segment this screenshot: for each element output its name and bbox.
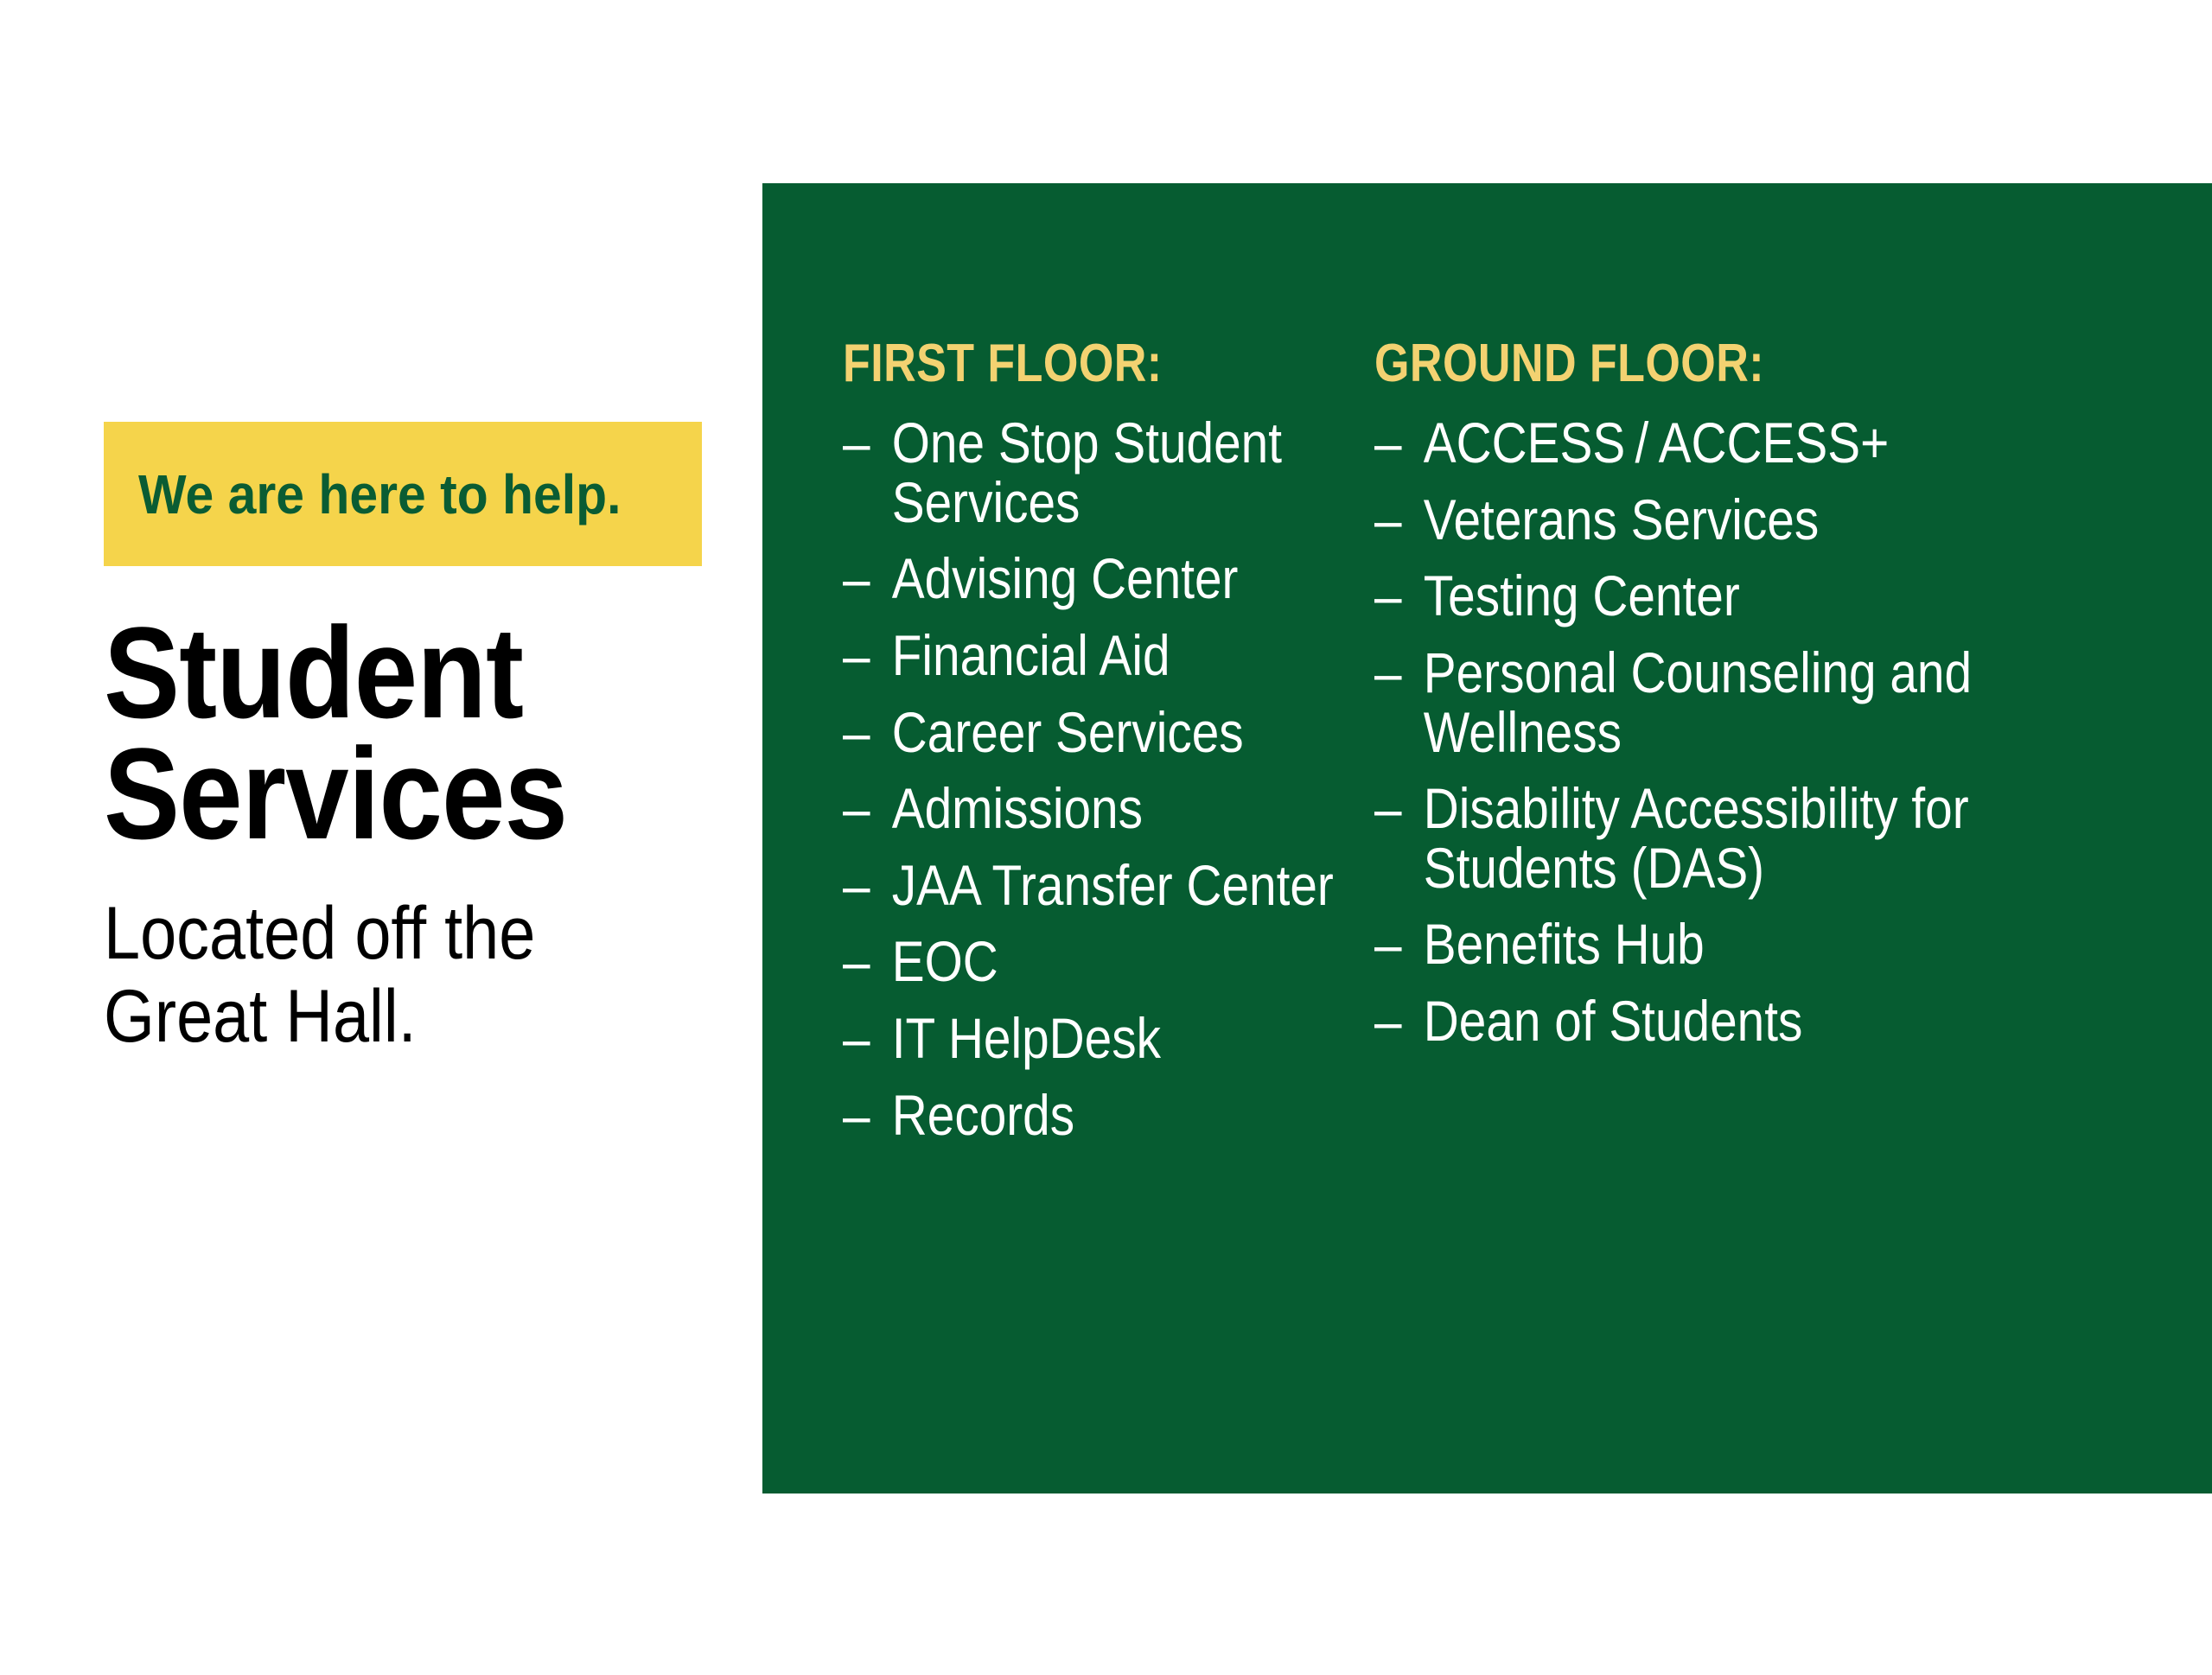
floor-list-ground: – ACCESS / ACCESS+ – Veterans Services –…: [1374, 413, 2083, 1051]
floor-column-ground: GROUND FLOOR: – ACCESS / ACCESS+ – Veter…: [1374, 337, 2083, 1051]
list-item-label: Career Services: [892, 703, 1423, 762]
floor-column-first: FIRST FLOOR: – One Stop Student Services…: [843, 337, 1374, 1144]
list-item-label: Benefits Hub: [1424, 914, 2131, 974]
floor-columns: FIRST FLOOR: – One Stop Student Services…: [843, 337, 2083, 1144]
services-panel: FIRST FLOOR: – One Stop Student Services…: [762, 183, 2212, 1493]
list-item-label: Testing Center: [1424, 566, 2131, 626]
list-marker-icon: –: [843, 703, 870, 762]
list-item: – Career Services: [843, 703, 1422, 762]
list-item-label: Dean of Students: [1424, 991, 2131, 1051]
list-item-label: Veterans Services: [1424, 490, 2131, 550]
list-item: – ACCESS / ACCESS+: [1374, 413, 2131, 473]
list-item-label: EOC: [892, 932, 1423, 991]
list-item-label: IT HelpDesk: [892, 1009, 1423, 1068]
list-marker-icon: –: [1374, 914, 1402, 974]
floor-heading-first: FIRST FLOOR:: [843, 337, 1290, 391]
list-item-label: Disability Accessibility for Students (D…: [1424, 779, 2131, 897]
list-item-label: One Stop Student Services: [892, 413, 1423, 532]
list-item-label: JAA Transfer Center: [892, 856, 1423, 915]
list-marker-icon: –: [1374, 643, 1402, 703]
list-marker-icon: –: [843, 1086, 870, 1145]
list-item: – Dean of Students: [1374, 991, 2131, 1051]
list-marker-icon: –: [1374, 566, 1402, 626]
list-item: – JAA Transfer Center: [843, 856, 1422, 915]
list-marker-icon: –: [1374, 490, 1402, 550]
list-marker-icon: –: [843, 856, 870, 915]
list-item-label: Admissions: [892, 779, 1423, 838]
list-item: – Benefits Hub: [1374, 914, 2131, 974]
list-item: – Financial Aid: [843, 626, 1422, 685]
help-badge-label: We are here to help.: [138, 467, 621, 522]
list-item-label: Financial Aid: [892, 626, 1423, 685]
list-item-label: Records: [892, 1086, 1423, 1145]
list-item: – Testing Center: [1374, 566, 2131, 626]
floor-list-first: – One Stop Student Services – Advising C…: [843, 413, 1374, 1144]
list-marker-icon: –: [843, 413, 870, 473]
page-title: Student Services: [104, 613, 659, 854]
page-title-line-1: Student: [104, 613, 659, 734]
list-item: – Personal Counseling and Wellness: [1374, 643, 2131, 761]
help-badge: We are here to help.: [104, 422, 702, 566]
list-item: – IT HelpDesk: [843, 1009, 1422, 1068]
page-subtitle: Located off the Great Hall.: [104, 892, 659, 1059]
list-marker-icon: –: [1374, 779, 1402, 838]
list-marker-icon: –: [843, 549, 870, 608]
list-item-label: ACCESS / ACCESS+: [1424, 413, 2131, 473]
poster-canvas: FIRST FLOOR: – One Stop Student Services…: [0, 0, 2212, 1675]
list-item: – One Stop Student Services: [843, 413, 1422, 532]
page-subtitle-line-1: Located off the: [104, 892, 659, 975]
list-item-label: Personal Counseling and Wellness: [1424, 643, 2131, 761]
list-item: – Records: [843, 1086, 1422, 1145]
floor-heading-ground: GROUND FLOOR:: [1374, 337, 1970, 391]
list-item: – EOC: [843, 932, 1422, 991]
list-marker-icon: –: [843, 779, 870, 838]
list-item: – Disability Accessibility for Students …: [1374, 779, 2131, 897]
list-item: – Advising Center: [843, 549, 1422, 608]
list-marker-icon: –: [843, 626, 870, 685]
list-marker-icon: –: [843, 1009, 870, 1068]
list-item: – Veterans Services: [1374, 490, 2131, 550]
list-item: – Admissions: [843, 779, 1422, 838]
page-title-line-2: Services: [104, 734, 659, 855]
list-marker-icon: –: [1374, 413, 1402, 473]
page-subtitle-line-2: Great Hall.: [104, 975, 659, 1058]
list-marker-icon: –: [843, 932, 870, 991]
list-marker-icon: –: [1374, 991, 1402, 1051]
intro-block: We are here to help. Student Services Lo…: [104, 422, 735, 1059]
list-item-label: Advising Center: [892, 549, 1423, 608]
